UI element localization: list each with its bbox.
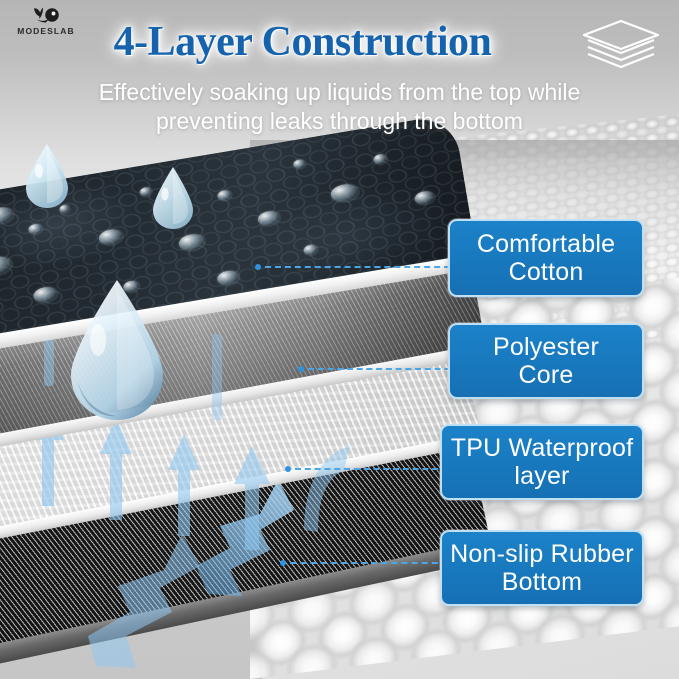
label-line-2: Cotton [509, 258, 584, 286]
subtitle-line-1: Effectively soaking up liquids from the … [28, 78, 651, 107]
header: MODESLAB 4-Layer Construction Effectivel… [0, 0, 679, 150]
subtitle-line-2: preventing leaks through the bottom [28, 107, 651, 136]
label-box-nonslip-rubber-bottom[interactable]: Non-slip Rubber Bottom [440, 530, 644, 606]
infographic-canvas: Comfortable Cotton Polyester Core TPU Wa… [0, 0, 679, 679]
label-line-1: TPU Waterproof [451, 434, 633, 462]
dashed-connector-layer-1 [255, 266, 460, 268]
page-title: 4-Layer Construction [0, 18, 679, 66]
label-line-1: Non-slip Rubber [450, 540, 634, 568]
label-box-comfortable-cotton[interactable]: Comfortable Cotton [448, 219, 644, 297]
page-subtitle: Effectively soaking up liquids from the … [0, 78, 679, 137]
dashed-connector-layer-3 [285, 468, 448, 470]
layers-stack-icon [579, 18, 663, 74]
label-line-1: Polyester [493, 333, 599, 361]
label-line-2: Bottom [502, 568, 582, 596]
label-box-tpu-waterproof-layer[interactable]: TPU Waterproof layer [440, 424, 644, 500]
label-line-2: layer [514, 462, 569, 490]
dashed-connector-layer-2 [298, 368, 460, 370]
water-droplet-icon [62, 278, 172, 422]
label-line-2: Core [518, 361, 573, 389]
label-box-polyester-core[interactable]: Polyester Core [448, 323, 644, 399]
water-droplet-icon [149, 166, 197, 230]
label-line-1: Comfortable [477, 230, 615, 258]
water-droplet-icon [22, 143, 72, 209]
dashed-connector-layer-4 [280, 562, 448, 564]
airflow-arrow-icon [204, 334, 230, 420]
